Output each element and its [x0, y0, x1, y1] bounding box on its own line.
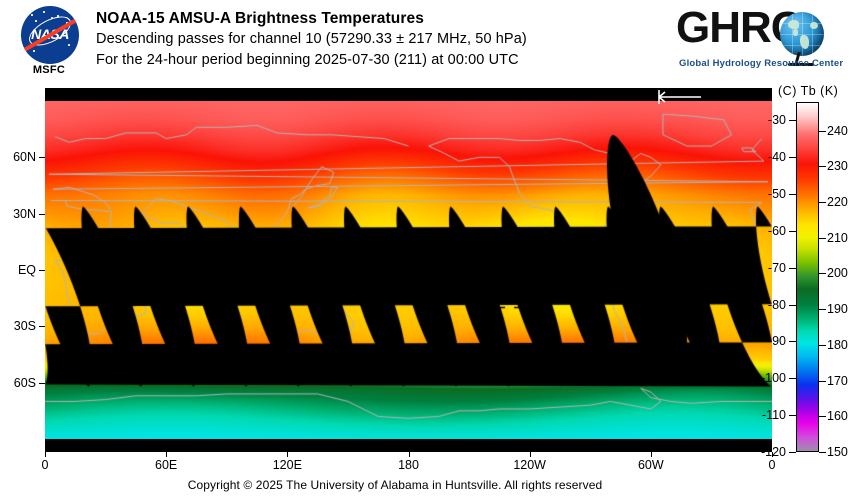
colorbar-tick-kelvin: [819, 238, 826, 239]
y-axis-label: EQ: [0, 263, 36, 277]
colorbar-tick-kelvin: [819, 131, 826, 132]
copyright-notice: Copyright © 2025 The University of Alaba…: [0, 478, 790, 492]
title-block: NOAA-15 AMSU-A Brightness Temperatures D…: [96, 9, 527, 71]
colorbar-label-kelvin: 220: [827, 195, 848, 209]
x-axis-tick: [166, 452, 167, 457]
colorbar-header: (C) Tb (K): [778, 84, 838, 98]
mouse-pointer-icon: [653, 89, 703, 105]
colorbar-tick-celsius: [789, 415, 796, 416]
y-axis-label: 30N: [0, 207, 36, 221]
colorbar-tick-celsius: [789, 120, 796, 121]
x-axis-tick: [651, 452, 652, 457]
page-subtitle: Descending passes for channel 10 (57290.…: [96, 29, 527, 50]
ghrc-full-name: Global Hydrology Resource Center: [679, 58, 843, 69]
colorbar-label-kelvin: 180: [827, 338, 848, 352]
colorbar-tick-kelvin: [819, 452, 826, 453]
colorbar-tick-kelvin: [819, 166, 826, 167]
colorbar-label-kelvin: 200: [827, 266, 848, 280]
swath-gap-overlay: [45, 101, 772, 439]
colorbar-label-celsius: -100: [746, 371, 786, 385]
colorbar-tick-celsius: [789, 305, 796, 306]
nasa-logo: NASA MSFC: [13, 6, 85, 64]
colorbar-label-celsius: -30: [746, 113, 786, 127]
screenshot-root: NASA MSFC NOAA-15 AMSU-A Brightness Temp…: [0, 0, 854, 502]
y-axis-tick: [39, 383, 45, 384]
colorbar-tick-kelvin: [819, 202, 826, 203]
colorbar-label-kelvin: 210: [827, 231, 848, 245]
colorbar-label-celsius: -110: [746, 408, 786, 422]
colorbar-label-celsius: -120: [746, 445, 786, 459]
colorbar-gradient: [796, 102, 819, 452]
colorbar[interactable]: -30-40-50-60-70-80-90-100-110-1202402302…: [796, 102, 819, 452]
page-title: NOAA-15 AMSU-A Brightness Temperatures: [96, 9, 527, 29]
colorbar-label-kelvin: 150: [827, 445, 848, 459]
nasa-meatball-icon: NASA: [21, 6, 79, 64]
colorbar-label-celsius: -70: [746, 261, 786, 275]
colorbar-label-celsius: -80: [746, 298, 786, 312]
y-axis-tick: [39, 214, 45, 215]
colorbar-tick-celsius: [789, 341, 796, 342]
y-axis-label: 60N: [0, 150, 36, 164]
globe-icon: [780, 12, 824, 56]
colorbar-tick-celsius: [789, 194, 796, 195]
x-axis-label: 60W: [638, 458, 664, 472]
colorbar-tick-celsius: [789, 452, 796, 453]
colorbar-tick-celsius: [789, 268, 796, 269]
x-axis-label: 60E: [155, 458, 177, 472]
colorbar-label-kelvin: 240: [827, 124, 848, 138]
page-period: For the 24-hour period beginning 2025-07…: [96, 50, 527, 71]
x-axis-label: 0: [769, 458, 776, 472]
colorbar-label-kelvin: 190: [827, 302, 848, 316]
y-axis-tick: [39, 157, 45, 158]
x-axis-tick: [287, 452, 288, 457]
colorbar-tick-kelvin: [819, 309, 826, 310]
x-axis-label: 180: [398, 458, 419, 472]
colorbar-label-kelvin: 170: [827, 374, 848, 388]
colorbar-label-celsius: -50: [746, 187, 786, 201]
colorbar-tick-kelvin: [819, 381, 826, 382]
x-axis-tick: [409, 452, 410, 457]
colorbar-tick-celsius: [789, 231, 796, 232]
ghrc-logo: GHRC Global Hydrology Resource Center: [676, 6, 844, 74]
colorbar-tick-celsius: [789, 157, 796, 158]
x-axis-label: 0: [42, 458, 49, 472]
colorbar-label-celsius: -90: [746, 334, 786, 348]
colorbar-tick-kelvin: [819, 416, 826, 417]
nasa-center-label: MSFC: [13, 64, 85, 76]
map-plot-area[interactable]: [45, 88, 772, 452]
y-axis-label: 30S: [0, 319, 36, 333]
colorbar-label-kelvin: 160: [827, 409, 848, 423]
y-axis-tick: [39, 326, 45, 327]
x-axis-tick: [530, 452, 531, 457]
x-axis-tick: [45, 452, 46, 457]
y-axis-label: 60S: [0, 376, 36, 390]
colorbar-tick-kelvin: [819, 345, 826, 346]
y-axis-tick: [39, 270, 45, 271]
colorbar-label-celsius: -60: [746, 224, 786, 238]
colorbar-tick-kelvin: [819, 273, 826, 274]
x-axis-label: 120W: [513, 458, 546, 472]
colorbar-label-kelvin: 230: [827, 159, 848, 173]
x-axis-label: 120E: [273, 458, 302, 472]
colorbar-label-celsius: -40: [746, 150, 786, 164]
colorbar-tick-celsius: [789, 378, 796, 379]
